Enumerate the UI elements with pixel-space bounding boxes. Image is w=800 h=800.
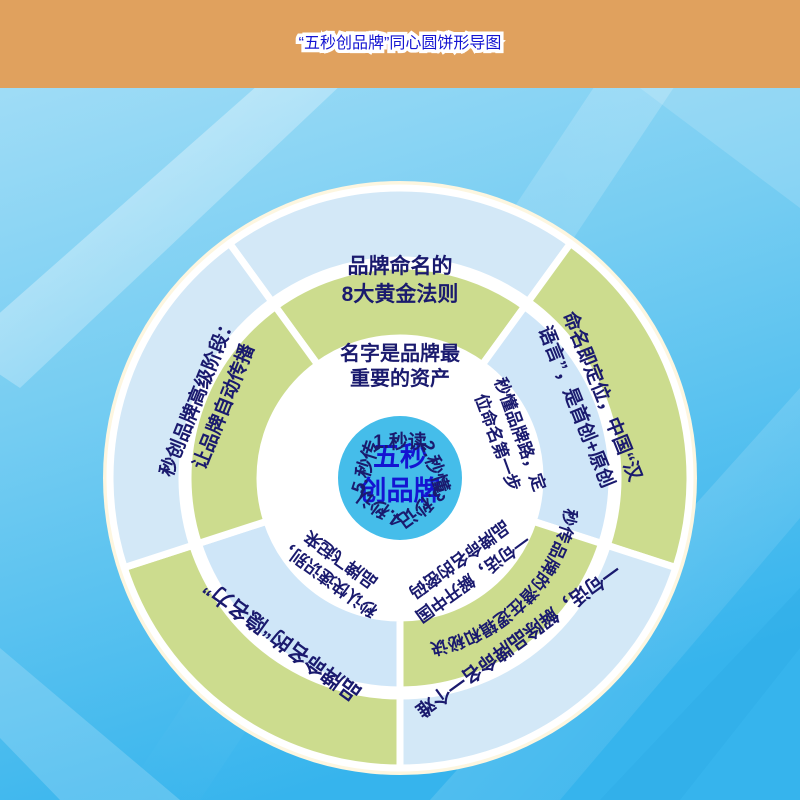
poster-title-fill: “五秒创品牌”同心圆饼形导图	[299, 35, 502, 52]
middle-label-1-line1: 名字是品牌最	[340, 341, 461, 365]
outer-label-1-line1: 品牌命名的	[348, 254, 453, 278]
poster-canvas: “五秒创品牌”同心圆饼形导图 “五秒创品牌”同心圆饼形导图	[0, 0, 800, 800]
poster-header-band: “五秒创品牌”同心圆饼形导图 “五秒创品牌”同心圆饼形导图	[0, 0, 800, 88]
pie-svg: 五秒 创品牌 品牌命名的 8大黄金法则 命名即定位，中国“汉 语言”，是首创+原…	[0, 88, 800, 800]
middle-label-1-line2: 重要的资产	[350, 366, 450, 390]
poster-title: “五秒创品牌”同心圆饼形导图 “五秒创品牌”同心圆饼形导图	[299, 16, 502, 72]
concentric-pie-chart: 五秒 创品牌 品牌命名的 8大黄金法则 命名即定位，中国“汉 语言”，是首创+原…	[0, 88, 800, 800]
outer-label-1-line2: 8大黄金法则	[342, 282, 459, 306]
